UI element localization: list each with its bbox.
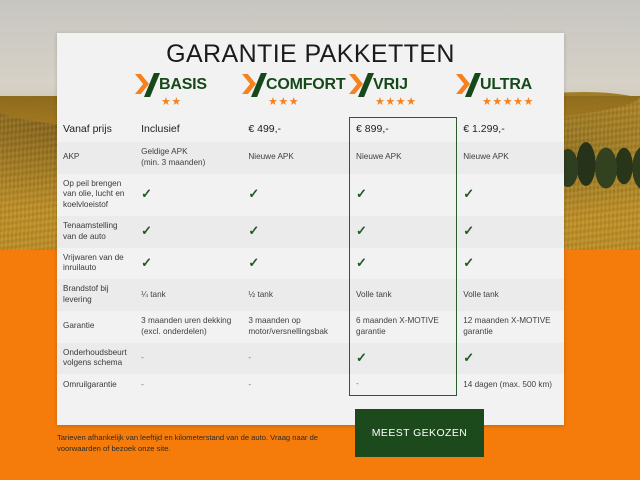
table-row: Vanaf prijsInclusief€ 499,-€ 899,-€ 1.29… (57, 118, 564, 142)
cell-ultra: ✓ (457, 248, 564, 280)
cell-comfort: ✓ (242, 248, 349, 280)
comparison-table: Vanaf prijsInclusief€ 499,-€ 899,-€ 1.29… (57, 117, 564, 396)
cell-vrij: ✓ (350, 174, 457, 216)
package-logo-ultra[interactable]: ULTRA ★★★★★ (456, 73, 563, 108)
star-rating-comfort: ★★★ (268, 97, 349, 108)
cell-ultra: ✓ (457, 174, 564, 216)
cell-basis: 3 maanden uren dekking (excl. onderdelen… (135, 311, 242, 343)
cell-vrij: Volle tank (350, 279, 457, 311)
cell-comfort: Nieuwe APK (242, 142, 349, 174)
star-rating-vrij: ★★★★ (375, 97, 456, 108)
package-name-vrij: VRIJ (373, 77, 408, 93)
row-label: Tenaamstelling van de auto (57, 216, 135, 248)
disclaimer-text: Tarieven afhankelijk van leeftijd en kil… (57, 432, 357, 454)
not-included-dash: - (248, 380, 251, 389)
cell-vrij: ✓ (350, 216, 457, 248)
cell-comfort: ½ tank (242, 279, 349, 311)
package-logos-row: BASIS ★★ COMFORT ★★★ VRIJ ★★★★ (57, 73, 564, 117)
not-included-dash: - (248, 353, 251, 362)
cell-vrij: Nieuwe APK (350, 142, 457, 174)
meest-gekozen-button[interactable]: MEEST GEKOZEN (355, 409, 484, 457)
check-icon: ✓ (356, 187, 367, 200)
comparison-table-body: Vanaf prijsInclusief€ 499,-€ 899,-€ 1.29… (57, 118, 564, 396)
cell-comfort: € 499,- (242, 118, 349, 142)
x-motive-logo-icon (135, 73, 160, 97)
cell-ultra: 12 maanden X-MOTIVE garantie (457, 311, 564, 343)
package-name-comfort: COMFORT (266, 77, 345, 93)
check-icon: ✓ (141, 224, 152, 237)
row-label: Onderhoudsbeurt volgens schema (57, 343, 135, 375)
footer: Tarieven afhankelijk van leeftijd en kil… (57, 425, 564, 480)
row-label: Vanaf prijs (57, 118, 135, 142)
row-label: Brandstof bij levering (57, 279, 135, 311)
page-title: GARANTIE PAKKETTEN (57, 33, 564, 67)
check-icon: ✓ (356, 256, 367, 269)
cell-ultra: 14 dagen (max. 500 km) (457, 374, 564, 395)
check-icon: ✓ (141, 256, 152, 269)
cell-vrij: € 899,- (350, 118, 457, 142)
package-name-basis: BASIS (159, 77, 207, 93)
cell-basis: ✓ (135, 248, 242, 280)
cell-vrij: ✓ (350, 248, 457, 280)
row-label: Op peil brengen van olie, lucht en koelv… (57, 174, 135, 216)
table-row: Onderhoudsbeurt volgens schema--✓✓ (57, 343, 564, 375)
cell-vrij: - (350, 374, 457, 395)
cell-comfort: - (242, 343, 349, 375)
cell-basis: ✓ (135, 174, 242, 216)
x-motive-logo-icon (349, 73, 374, 97)
cell-ultra: ✓ (457, 343, 564, 375)
row-label: AKP (57, 142, 135, 174)
table-row: Garantie3 maanden uren dekking (excl. on… (57, 311, 564, 343)
package-logo-vrij[interactable]: VRIJ ★★★★ (349, 73, 456, 108)
check-icon: ✓ (356, 224, 367, 237)
check-icon: ✓ (463, 187, 474, 200)
cell-basis: - (135, 343, 242, 375)
table-row: Tenaamstelling van de auto✓✓✓✓ (57, 216, 564, 248)
table-row: AKPGeldige APK (min. 3 maanden)Nieuwe AP… (57, 142, 564, 174)
check-icon: ✓ (356, 351, 367, 364)
cell-basis: Inclusief (135, 118, 242, 142)
check-icon: ✓ (141, 187, 152, 200)
check-icon: ✓ (248, 187, 259, 200)
check-icon: ✓ (463, 351, 474, 364)
not-included-dash: - (141, 380, 144, 389)
table-row: Brandstof bij levering¼ tank½ tankVolle … (57, 279, 564, 311)
row-label: Garantie (57, 311, 135, 343)
cell-ultra: ✓ (457, 216, 564, 248)
x-motive-logo-icon (456, 73, 481, 97)
star-rating-ultra: ★★★★★ (482, 97, 563, 108)
x-motive-logo-icon (242, 73, 267, 97)
table-row: Vrijwaren van de inruilauto✓✓✓✓ (57, 248, 564, 280)
row-label: Vrijwaren van de inruilauto (57, 248, 135, 280)
table-row: Omruilgarantie---14 dagen (max. 500 km) (57, 374, 564, 395)
pricing-card: GARANTIE PAKKETTEN BASIS ★★ COMFORT ★★★ (57, 33, 564, 425)
cell-basis: ¼ tank (135, 279, 242, 311)
package-logo-basis[interactable]: BASIS ★★ (135, 73, 242, 108)
cell-ultra: € 1.299,- (457, 118, 564, 142)
table-row: Op peil brengen van olie, lucht en koelv… (57, 174, 564, 216)
cell-basis: Geldige APK (min. 3 maanden) (135, 142, 242, 174)
cell-basis: - (135, 374, 242, 395)
cell-vrij: 6 maanden X-MOTIVE garantie (350, 311, 457, 343)
cell-ultra: Nieuwe APK (457, 142, 564, 174)
cell-comfort: ✓ (242, 174, 349, 216)
cell-comfort: - (242, 374, 349, 395)
check-icon: ✓ (248, 256, 259, 269)
package-logo-comfort[interactable]: COMFORT ★★★ (242, 73, 349, 108)
cell-vrij: ✓ (350, 343, 457, 375)
not-included-dash: - (141, 353, 144, 362)
package-name-ultra: ULTRA (480, 77, 532, 93)
tree-line (560, 128, 640, 192)
check-icon: ✓ (463, 256, 474, 269)
check-icon: ✓ (248, 224, 259, 237)
cell-comfort: 3 maanden op motor/versnellingsbak (242, 311, 349, 343)
row-label: Omruilgarantie (57, 374, 135, 395)
cell-ultra: Volle tank (457, 279, 564, 311)
star-rating-basis: ★★ (161, 97, 242, 108)
cell-basis: ✓ (135, 216, 242, 248)
check-icon: ✓ (463, 224, 474, 237)
cell-comfort: ✓ (242, 216, 349, 248)
not-included-dash: - (356, 379, 359, 388)
